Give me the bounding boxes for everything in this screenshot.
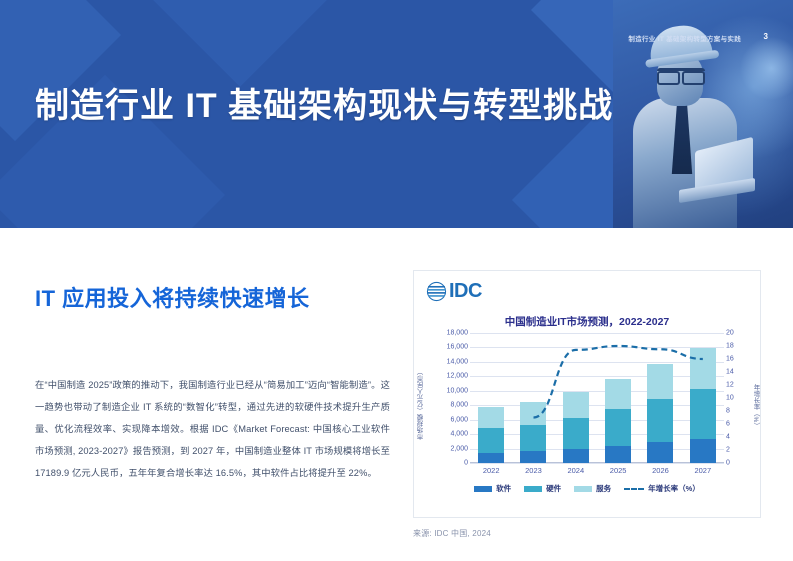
bar-segment-hardware: [520, 425, 546, 451]
y2-tick: 18: [726, 343, 734, 350]
running-head: 制造行业 IT 基础架构转型方案与实践: [628, 33, 741, 43]
bar-column: [690, 333, 716, 463]
legend-swatch-services: [574, 486, 592, 492]
bar-segment-hardware: [605, 409, 631, 445]
section-title: IT 应用投入将持续快速增长: [35, 281, 310, 313]
legend-item-software: 软件: [474, 483, 511, 494]
bar-segment-software: [647, 442, 673, 463]
bar-segment-services: [605, 379, 631, 409]
x-tick: 2026: [647, 466, 673, 475]
legend-label-software: 软件: [496, 483, 511, 494]
chart-card: IDC 中国制造业IT市场预测，2022-2027 市场规模（亿元人民币） 年增…: [413, 270, 761, 518]
y2-tick: 20: [726, 330, 734, 337]
y-tick: 4,000: [450, 431, 468, 438]
y-tick: 8,000: [450, 402, 468, 409]
bar-segment-services: [520, 402, 546, 425]
y-tick: 0: [464, 460, 468, 467]
y-tick: 18,000: [447, 330, 468, 337]
y2-tick: 8: [726, 408, 730, 415]
y-tick: 10,000: [447, 387, 468, 394]
bar-column: [478, 333, 504, 463]
laptop-icon: [679, 144, 759, 200]
body-paragraph: 在“中国制造 2025”政策的推动下，我国制造行业已经从“简易加工”迈向“智能制…: [35, 374, 390, 484]
x-tick: 2024: [563, 466, 589, 475]
legend-item-services: 服务: [574, 483, 611, 494]
y2-axis-ticks: 20181614121086420: [726, 333, 748, 463]
x-tick: 2022: [478, 466, 504, 475]
legend-item-hardware: 硬件: [524, 483, 561, 494]
y2-tick: 4: [726, 434, 730, 441]
bar-segment-software: [605, 446, 631, 463]
x-tick: 2023: [520, 466, 546, 475]
bar-segment-hardware: [563, 418, 589, 448]
bar-segment-services: [563, 392, 589, 418]
bar-segment-services: [647, 364, 673, 399]
bar-column: [520, 333, 546, 463]
y-tick: 12,000: [447, 373, 468, 380]
bar-segment-hardware: [690, 389, 716, 439]
bar-segment-hardware: [647, 399, 673, 442]
globe-icon: [426, 281, 447, 302]
legend-swatch-growth-rate: [624, 488, 644, 490]
bar-column: [647, 333, 673, 463]
y-tick: 6,000: [450, 416, 468, 423]
y2-tick: 0: [726, 460, 730, 467]
bar-segment-services: [478, 407, 504, 428]
legend-label-growth-rate: 年增长率（%）: [648, 483, 700, 494]
chart-title: 中国制造业IT市场预测，2022-2027: [414, 314, 760, 329]
bar-column: [605, 333, 631, 463]
slide-page: 制造行业 IT 基础架构转型方案与实践 3 制造行业 IT 基础架构现状与转型挑…: [0, 0, 793, 561]
bar-segment-software: [520, 451, 546, 463]
legend-item-growth-rate: 年增长率（%）: [624, 483, 700, 494]
bar-segment-software: [563, 449, 589, 463]
legend-swatch-hardware: [524, 486, 542, 492]
x-tick: 2025: [605, 466, 631, 475]
y-tick: 16,000: [447, 344, 468, 351]
worker-illustration: [631, 24, 751, 228]
plot-canvas: [470, 333, 724, 463]
y2-tick: 2: [726, 447, 730, 454]
y2-axis-label: 年增长率（%）: [748, 361, 760, 451]
y-tick: 14,000: [447, 358, 468, 365]
legend-swatch-software: [474, 486, 492, 492]
x-axis-ticks: 202220232024202520262027: [470, 466, 724, 475]
chart-source: 来源: IDC 中国, 2024: [413, 528, 491, 539]
y2-tick: 10: [726, 395, 734, 402]
legend-label-services: 服务: [596, 483, 611, 494]
page-number: 3: [764, 32, 768, 41]
idc-wordmark: IDC: [449, 281, 482, 302]
x-tick: 2027: [690, 466, 716, 475]
content-area: IT 应用投入将持续快速增长 在“中国制造 2025”政策的推动下，我国制造行业…: [0, 228, 793, 561]
page-title: 制造行业 IT 基础架构现状与转型挑战: [35, 78, 613, 127]
header-banner: 制造行业 IT 基础架构转型方案与实践 3 制造行业 IT 基础架构现状与转型挑…: [0, 0, 793, 228]
y2-tick: 6: [726, 421, 730, 428]
chart-plot-area: 市场规模（亿元人民币） 年增长率（%） 18,00016,00014,00012…: [414, 333, 762, 478]
bar-group: [470, 333, 724, 463]
bar-segment-software: [478, 453, 504, 463]
chart-legend: 软件 硬件 服务 年增长率（%）: [414, 483, 760, 494]
bar-segment-services: [690, 348, 716, 389]
bar-column: [563, 333, 589, 463]
y2-tick: 14: [726, 369, 734, 376]
y2-tick: 12: [726, 382, 734, 389]
bar-segment-software: [690, 439, 716, 463]
y-tick: 2,000: [450, 445, 468, 452]
y2-tick: 16: [726, 356, 734, 363]
legend-label-hardware: 硬件: [546, 483, 561, 494]
idc-logo: IDC: [426, 281, 482, 302]
y-axis-ticks: 18,00016,00014,00012,00010,0008,0006,000…: [428, 333, 468, 463]
bar-segment-hardware: [478, 428, 504, 453]
